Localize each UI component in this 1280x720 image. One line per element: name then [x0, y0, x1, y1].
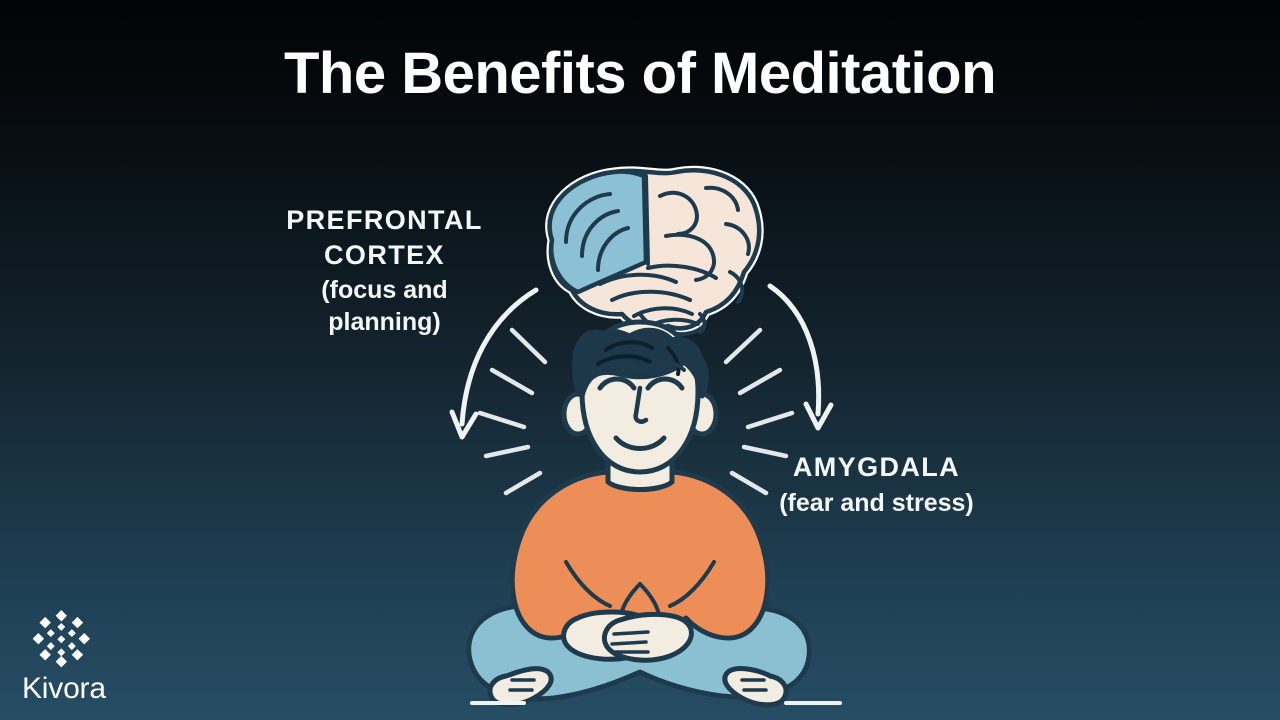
- callout-prefrontal-cortex: PREFRONTAL CORTEX (focus and planning): [272, 203, 497, 338]
- meditating-figure: [469, 322, 810, 705]
- callout-heading: PREFRONTAL CORTEX: [272, 203, 497, 272]
- callout-subtext: (fear and stress): [764, 487, 989, 519]
- kivora-mandala-icon: [30, 608, 92, 670]
- meditation-illustration: [0, 0, 1280, 720]
- slide-canvas: The Benefits of Meditation: [0, 0, 1280, 720]
- callout-heading: AMYGDALA: [764, 450, 989, 485]
- brand-name: Kivora: [22, 672, 106, 706]
- callout-subtext: (focus and planning): [272, 274, 497, 338]
- arrow-to-amygdala: [770, 286, 819, 414]
- callout-amygdala: AMYGDALA (fear and stress): [764, 450, 989, 519]
- brain-illustration: [550, 170, 760, 334]
- brand-logo: Kivora: [18, 608, 106, 706]
